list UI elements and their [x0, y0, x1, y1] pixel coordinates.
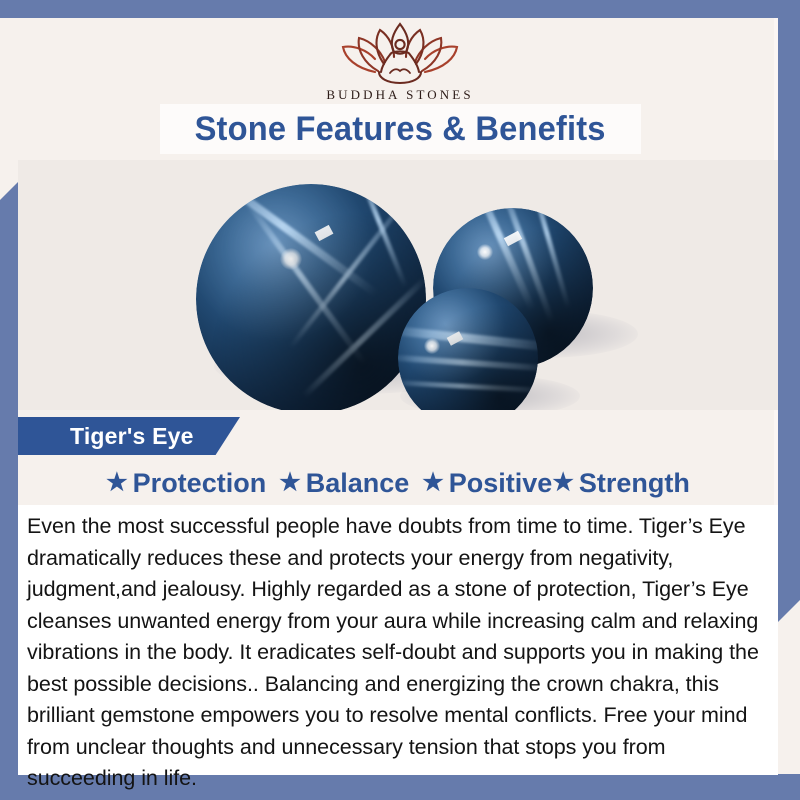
frame-right-bevel	[778, 600, 800, 622]
star-icon: ★	[552, 471, 574, 495]
benefit-label: Positive	[449, 468, 553, 499]
benefit-item-positive: ★ Positive	[422, 468, 552, 499]
stone-sphere-large	[196, 184, 426, 410]
description-text: Even the most successful people have dou…	[27, 511, 766, 795]
stone-name: Tiger's Eye	[70, 423, 194, 450]
stone-name-banner: Tiger's Eye	[18, 417, 240, 455]
brand-name: BUDDHA STONES	[0, 87, 800, 103]
brand-logo: BUDDHA STONES	[0, 14, 800, 103]
benefit-label: Strength	[579, 468, 690, 499]
page-title: Stone Features & Benefits	[195, 110, 606, 149]
title-banner: Stone Features & Benefits	[160, 104, 641, 154]
stone-photo	[18, 160, 778, 410]
benefit-item-balance: ★ Balance	[279, 468, 409, 499]
star-icon: ★	[422, 471, 444, 495]
lotus-meditation-icon	[334, 14, 466, 86]
sphere-shading	[196, 184, 426, 410]
benefit-item-protection: ★ Protection	[106, 468, 266, 499]
frame-left-border	[0, 200, 18, 800]
frame-left-bevel	[0, 182, 18, 200]
benefit-item-strength: ★ Strength	[552, 468, 690, 499]
benefit-label: Balance	[306, 468, 410, 499]
poster-canvas: BUDDHA STONES Stone Features & Benefits	[0, 0, 800, 800]
benefit-label: Protection	[133, 468, 267, 499]
star-icon: ★	[106, 471, 128, 495]
star-icon: ★	[279, 471, 301, 495]
benefits-row: ★ Protection ★ Balance ★ Positive ★ Stre…	[18, 463, 778, 503]
description-card: Even the most successful people have dou…	[18, 505, 778, 775]
